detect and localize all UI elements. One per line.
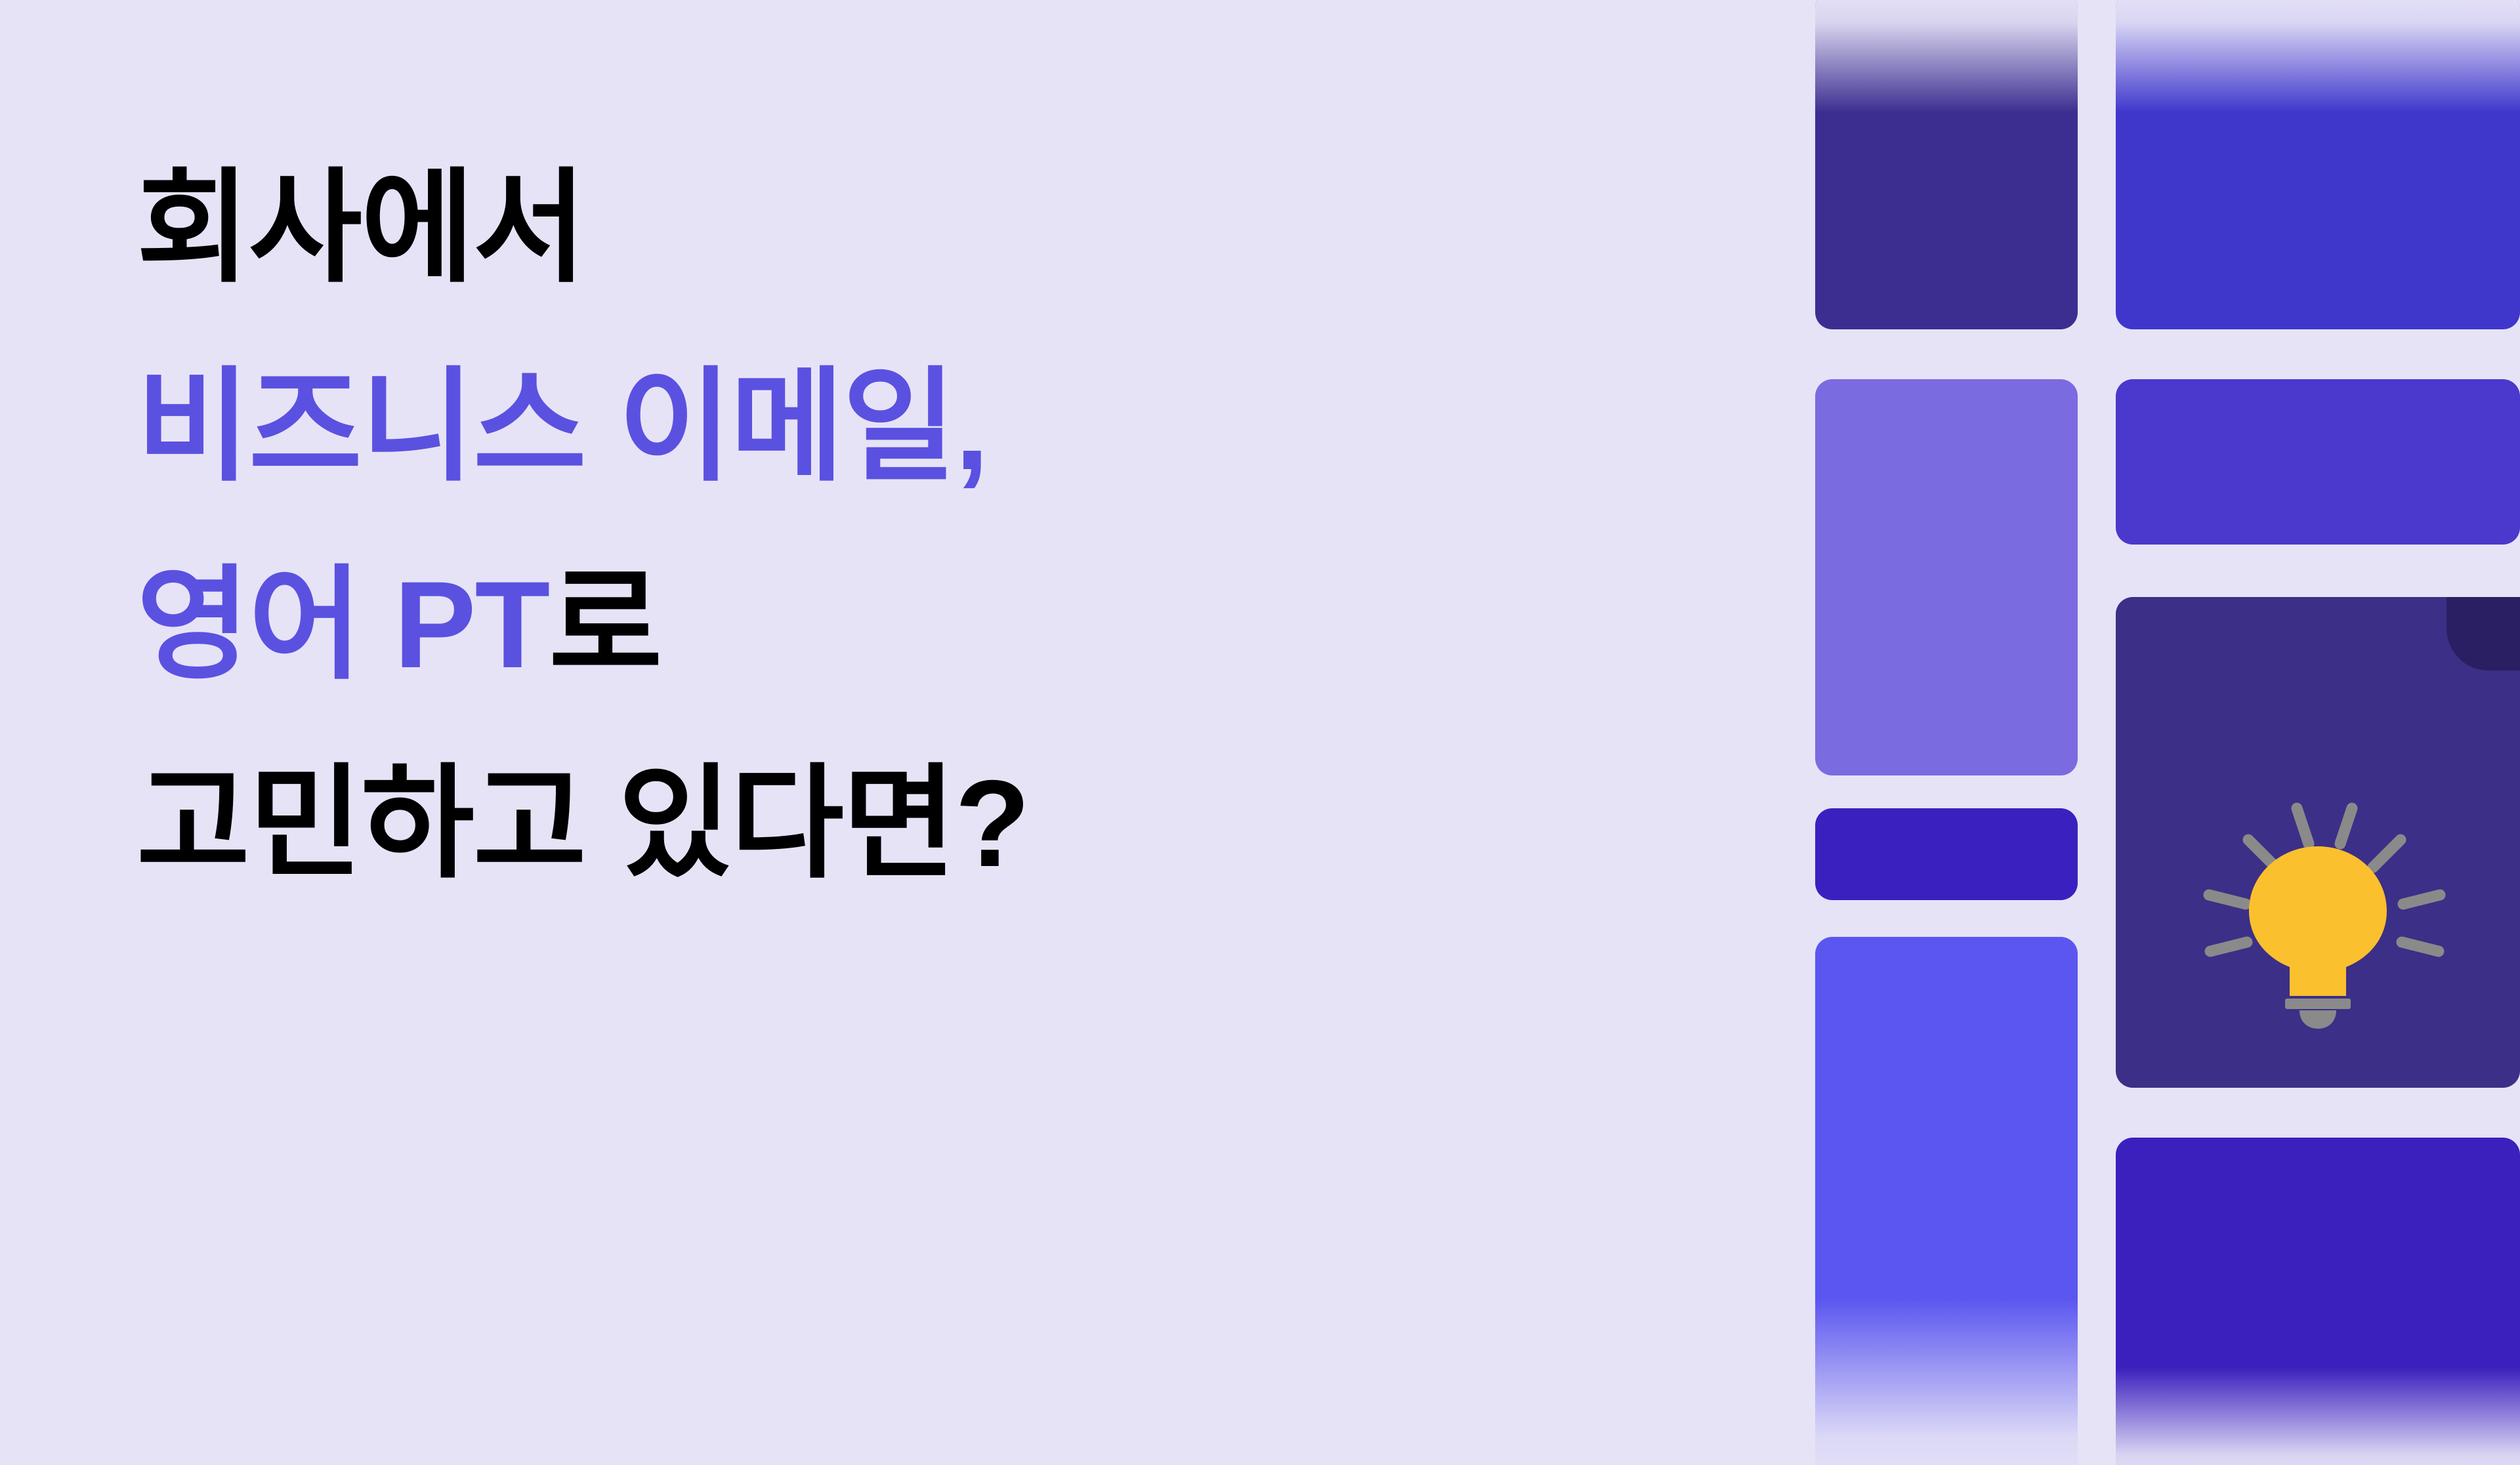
document-fold-corner-icon: [2446, 597, 2520, 671]
lightbulb-glass-icon: [2249, 846, 2387, 996]
document-card: [2116, 597, 2520, 1088]
headline-line-4: 고민하고 있다면?: [136, 724, 1646, 923]
lightbulb-base-icon: [2285, 999, 2351, 1009]
headline-line-3-suffix: 로: [549, 556, 661, 693]
tile-blue-bar: [1815, 808, 2078, 900]
tile-blue-top: [2116, 0, 2520, 329]
tile-deep-blue-bottom: [2116, 1138, 2520, 1465]
headline-line-3-accent: 영어 PT: [136, 556, 549, 693]
headline-line-4-text: 고민하고 있다면?: [136, 754, 1029, 892]
headline-line-2-text: 비즈니스 이메일,: [136, 358, 988, 495]
tile-indigo-bar: [2116, 379, 2520, 545]
headline-line-3: 영어 PT로: [136, 526, 1646, 724]
headline-line-2: 비즈니스 이메일,: [136, 327, 1646, 526]
lightbulb-icon: [2180, 775, 2456, 1051]
tile-dark-indigo-top: [1815, 0, 2078, 329]
lightbulb-tip-icon: [2299, 1010, 2336, 1029]
tile-bright-blue-bottom: [1815, 937, 2078, 1465]
headline-block: 회사에서 비즈니스 이메일, 영어 PT로 고민하고 있다면?: [136, 129, 1646, 923]
tile-collage-graphic: [1815, 0, 2520, 1465]
tile-light-purple: [1815, 379, 2078, 775]
headline-line-1-text: 회사에서: [136, 159, 585, 297]
headline-line-1: 회사에서: [136, 129, 1646, 327]
